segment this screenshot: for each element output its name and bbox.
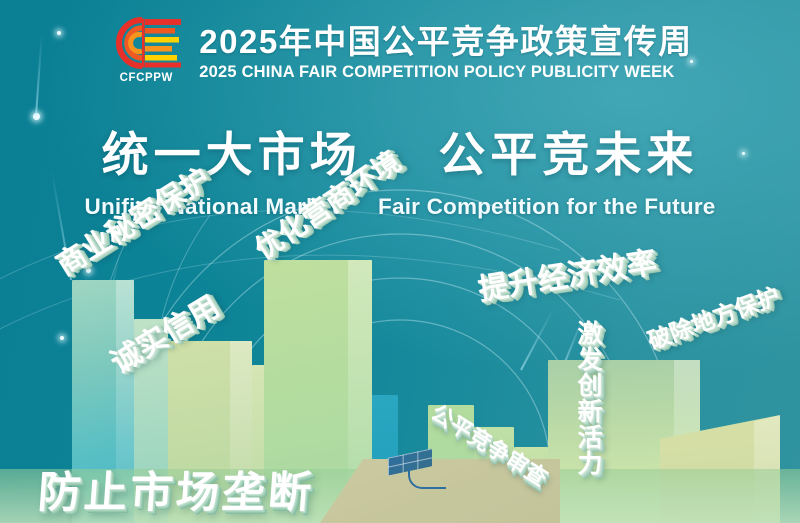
slogan-cn-part1: 统一大市场 [102, 128, 362, 183]
cfcppw-logo-icon [108, 16, 184, 70]
poster-canvas: CFCPPW 2025年中国公平竞争政策宣传周 2025 CHINA FAIR … [0, 0, 800, 523]
header: CFCPPW 2025年中国公平竞争政策宣传周 2025 CHINA FAIR … [0, 14, 800, 92]
header-title-cn: 2025年中国公平竞争政策宣传周 [199, 24, 692, 60]
logo-block: CFCPPW [107, 16, 185, 90]
slogan-en-part2: Fair Competition for the Future [378, 194, 715, 219]
skyline: 商业秘密保护 诚实信用 优化营商环境 公平竞争审查 提升经济效率 激发创新活力 … [0, 223, 800, 523]
building-label-economic-efficiency: 提升经济效率 [475, 237, 660, 309]
header-title-en: 2025 CHINA FAIR COMPETITION POLICY PUBLI… [199, 63, 692, 82]
building-label-local-protection: 破除地方保护 [642, 277, 783, 356]
logo-acronym: CFCPPW [120, 72, 173, 84]
banner-prevent-monopoly: 防止市场垄断 [36, 469, 315, 517]
slogan-cn-part2: 公平竞未来 [438, 128, 698, 183]
building-label-innovation: 激发创新活力 [570, 320, 606, 476]
solar-panel-pole [408, 467, 446, 489]
header-titles: 2025年中国公平竞争政策宣传周 2025 CHINA FAIR COMPETI… [199, 24, 692, 82]
cfcppw-logo-svg [108, 16, 184, 70]
